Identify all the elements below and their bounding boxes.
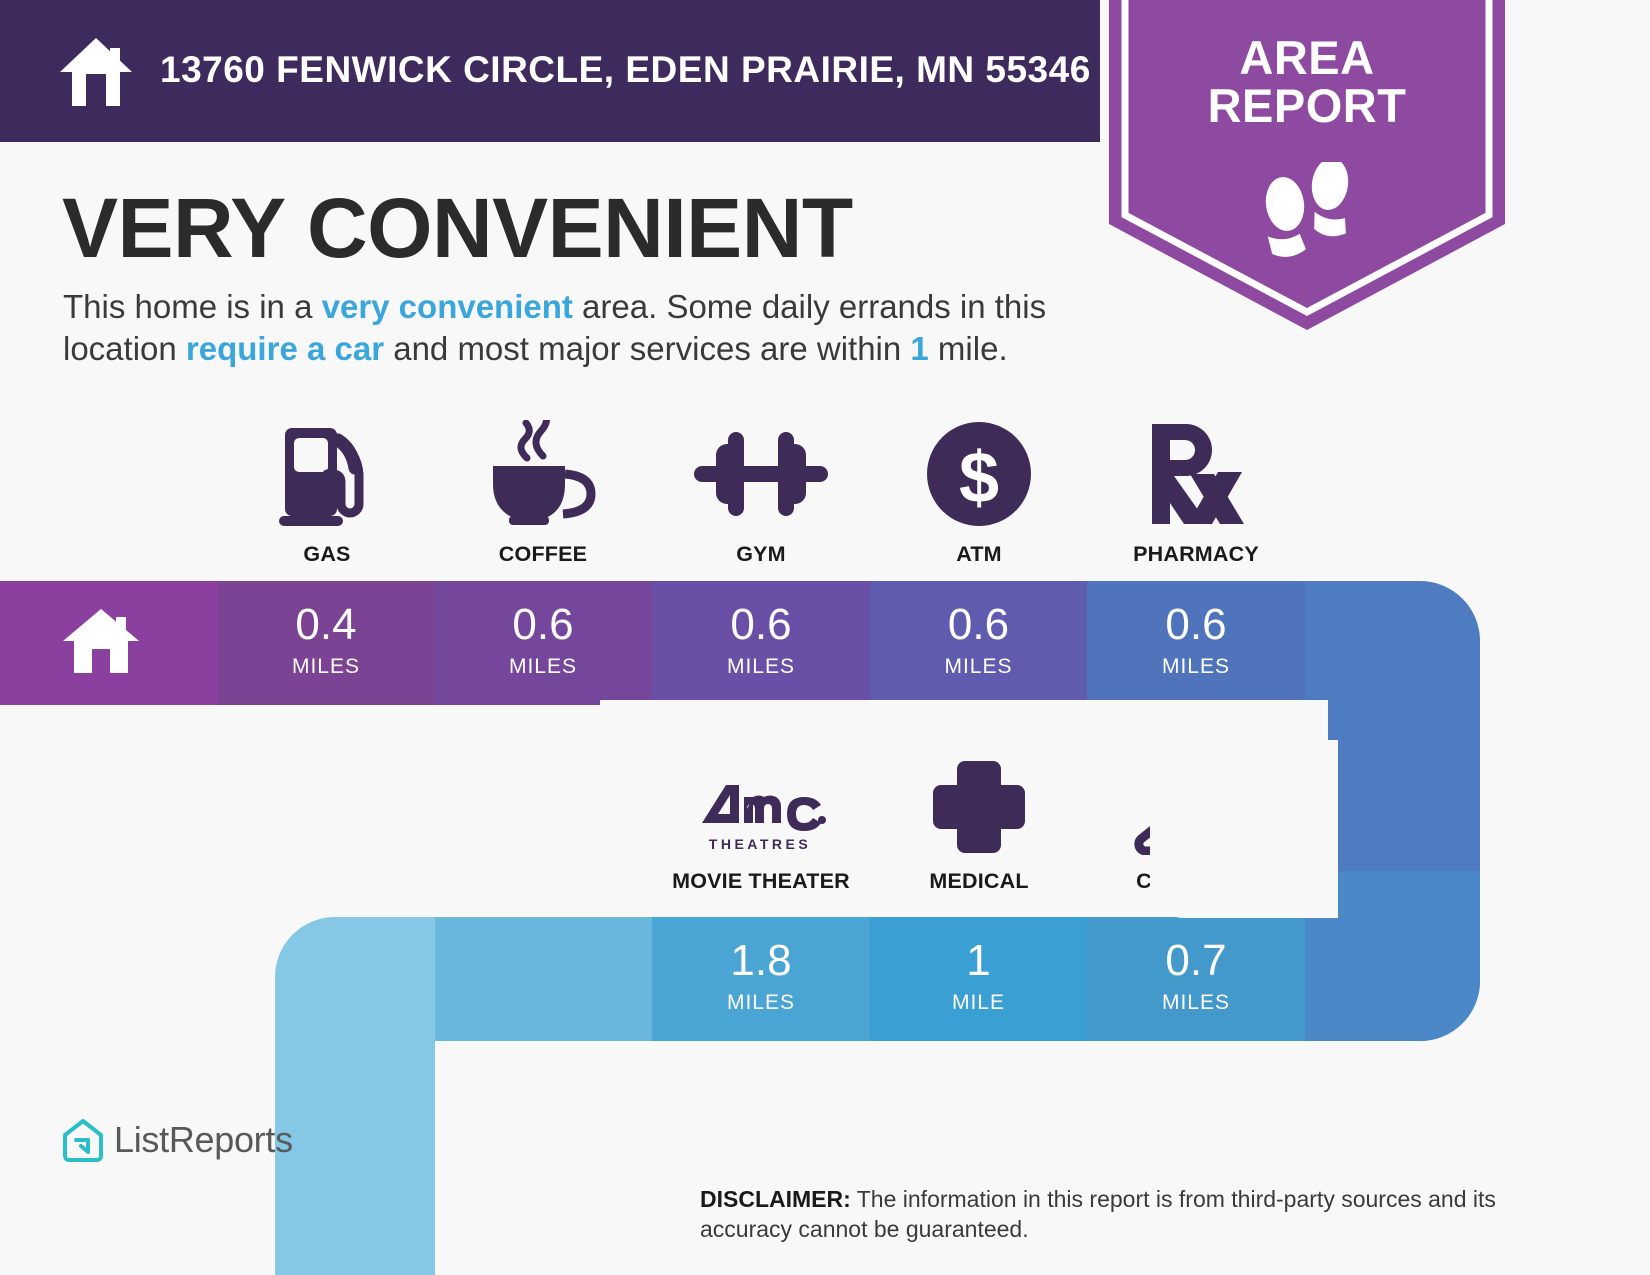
disclaimer-label: DISCLAIMER:	[700, 1186, 851, 1212]
amc-subtext: THEATRES	[709, 836, 811, 852]
bar-unit-coffee: MILES	[434, 647, 652, 677]
icon-cell-movie-theater: THEATRES MOVIE THEATER	[652, 755, 870, 894]
bar-segment-movie-theater: 1.8 MILES	[652, 917, 870, 1041]
bar-tail-left	[275, 917, 435, 1275]
icon-label-medical: MEDICAL	[870, 869, 1088, 894]
home-icon	[62, 607, 140, 673]
icon-cell-pharmacy: PHARMACY	[1087, 420, 1305, 567]
icon-cell-medical: MEDICAL	[870, 755, 1088, 894]
icon-cell-gas: GAS	[218, 420, 436, 567]
subtitle-part-4: mile.	[929, 330, 1008, 367]
page-subtitle: This home is in a very convenient area. …	[63, 286, 1108, 370]
icon-label-gym: GYM	[652, 542, 870, 567]
page-title: VERY CONVENIENT	[62, 186, 853, 270]
property-address: 13760 FENWICK CIRCLE, EDEN PRAIRIE, MN 5…	[160, 49, 1091, 91]
bar-value-pharmacy: 0.6	[1087, 581, 1305, 647]
bar-value-movie-theater: 1.8	[652, 917, 870, 983]
listreports-logo: ListReports	[62, 1118, 293, 1162]
bar-value-gym: 0.6	[652, 581, 870, 647]
bar-value-gas: 0.4	[218, 581, 434, 647]
icon-label-movie-theater: MOVIE THEATER	[652, 869, 870, 894]
icon-label-gas: GAS	[218, 542, 436, 567]
bar-unit-atm: MILES	[870, 647, 1087, 677]
dumbbell-icon	[694, 420, 828, 528]
gas-pump-icon	[277, 420, 377, 528]
bar-unit-pharmacy: MILES	[1087, 647, 1305, 677]
footprints-icon	[1258, 162, 1358, 272]
subtitle-part-1: This home is in a	[63, 288, 322, 325]
bar-unit-gas: MILES	[218, 647, 434, 677]
area-report-badge: AREA REPORT	[1109, 0, 1505, 330]
icon-label-pharmacy: PHARMACY	[1087, 542, 1305, 567]
bar-value-coffee: 0.6	[434, 581, 652, 647]
badge-label: AREA REPORT	[1109, 34, 1505, 130]
icon-label-coffee: COFFEE	[434, 542, 652, 567]
bar-unit-gym: MILES	[652, 647, 870, 677]
icon-cell-gym: GYM	[652, 420, 870, 567]
subtitle-highlight-2: require a car	[186, 330, 384, 367]
bar-segment-tail	[435, 917, 652, 1041]
subtitle-highlight-1: very convenient	[322, 288, 573, 325]
bar-unit-cleaners: MILES	[1087, 983, 1305, 1013]
bar-segment-coffee: 0.6 MILES	[434, 581, 652, 705]
bar-segment-medical: 1 MILE	[870, 917, 1087, 1041]
dollar-circle-icon: $	[927, 420, 1031, 528]
subtitle-highlight-3: 1	[910, 330, 928, 367]
bar-segment-gym: 0.6 MILES	[652, 581, 870, 705]
bar-unit-movie-theater: MILES	[652, 983, 870, 1013]
icon-label-atm: ATM	[870, 542, 1088, 567]
header-bar: 13760 FENWICK CIRCLE, EDEN PRAIRIE, MN 5…	[0, 0, 1100, 142]
bar-home-cell	[0, 581, 218, 705]
icon-cell-coffee: COFFEE	[434, 420, 652, 567]
rx-icon	[1146, 420, 1246, 528]
amc-theatres-logo: THEATRES	[696, 777, 826, 855]
svg-text:$: $	[959, 438, 999, 518]
bar-value-cleaners: 0.7	[1087, 917, 1305, 983]
subtitle-part-3: and most major services are within	[384, 330, 910, 367]
bar-unit-medical: MILE	[870, 983, 1087, 1013]
icon-cell-atm: $ ATM	[870, 420, 1088, 567]
bar-segment-cleaners: 0.7 MILES	[1087, 917, 1305, 1041]
bar-value-atm: 0.6	[870, 581, 1087, 647]
row2-icon-backdrop-top	[600, 700, 1328, 740]
badge-line-2: REPORT	[1109, 82, 1505, 130]
listreports-wordmark: ListReports	[114, 1119, 293, 1161]
area-report-infographic: 13760 FENWICK CIRCLE, EDEN PRAIRIE, MN 5…	[0, 0, 1650, 1275]
row2-notch	[1150, 740, 1338, 918]
disclaimer: DISCLAIMER: The information in this repo…	[700, 1185, 1530, 1245]
bar-segment-pharmacy: 0.6 MILES	[1087, 581, 1305, 705]
medical-cross-icon	[931, 759, 1027, 855]
bar-segment-atm: 0.6 MILES	[870, 581, 1087, 705]
badge-line-1: AREA	[1109, 34, 1505, 82]
bar-value-medical: 1	[870, 917, 1087, 983]
bar-segment-gas: 0.4 MILES	[218, 581, 434, 705]
home-icon	[58, 34, 134, 110]
listreports-house-icon	[62, 1118, 104, 1162]
coffee-cup-icon	[485, 420, 601, 528]
